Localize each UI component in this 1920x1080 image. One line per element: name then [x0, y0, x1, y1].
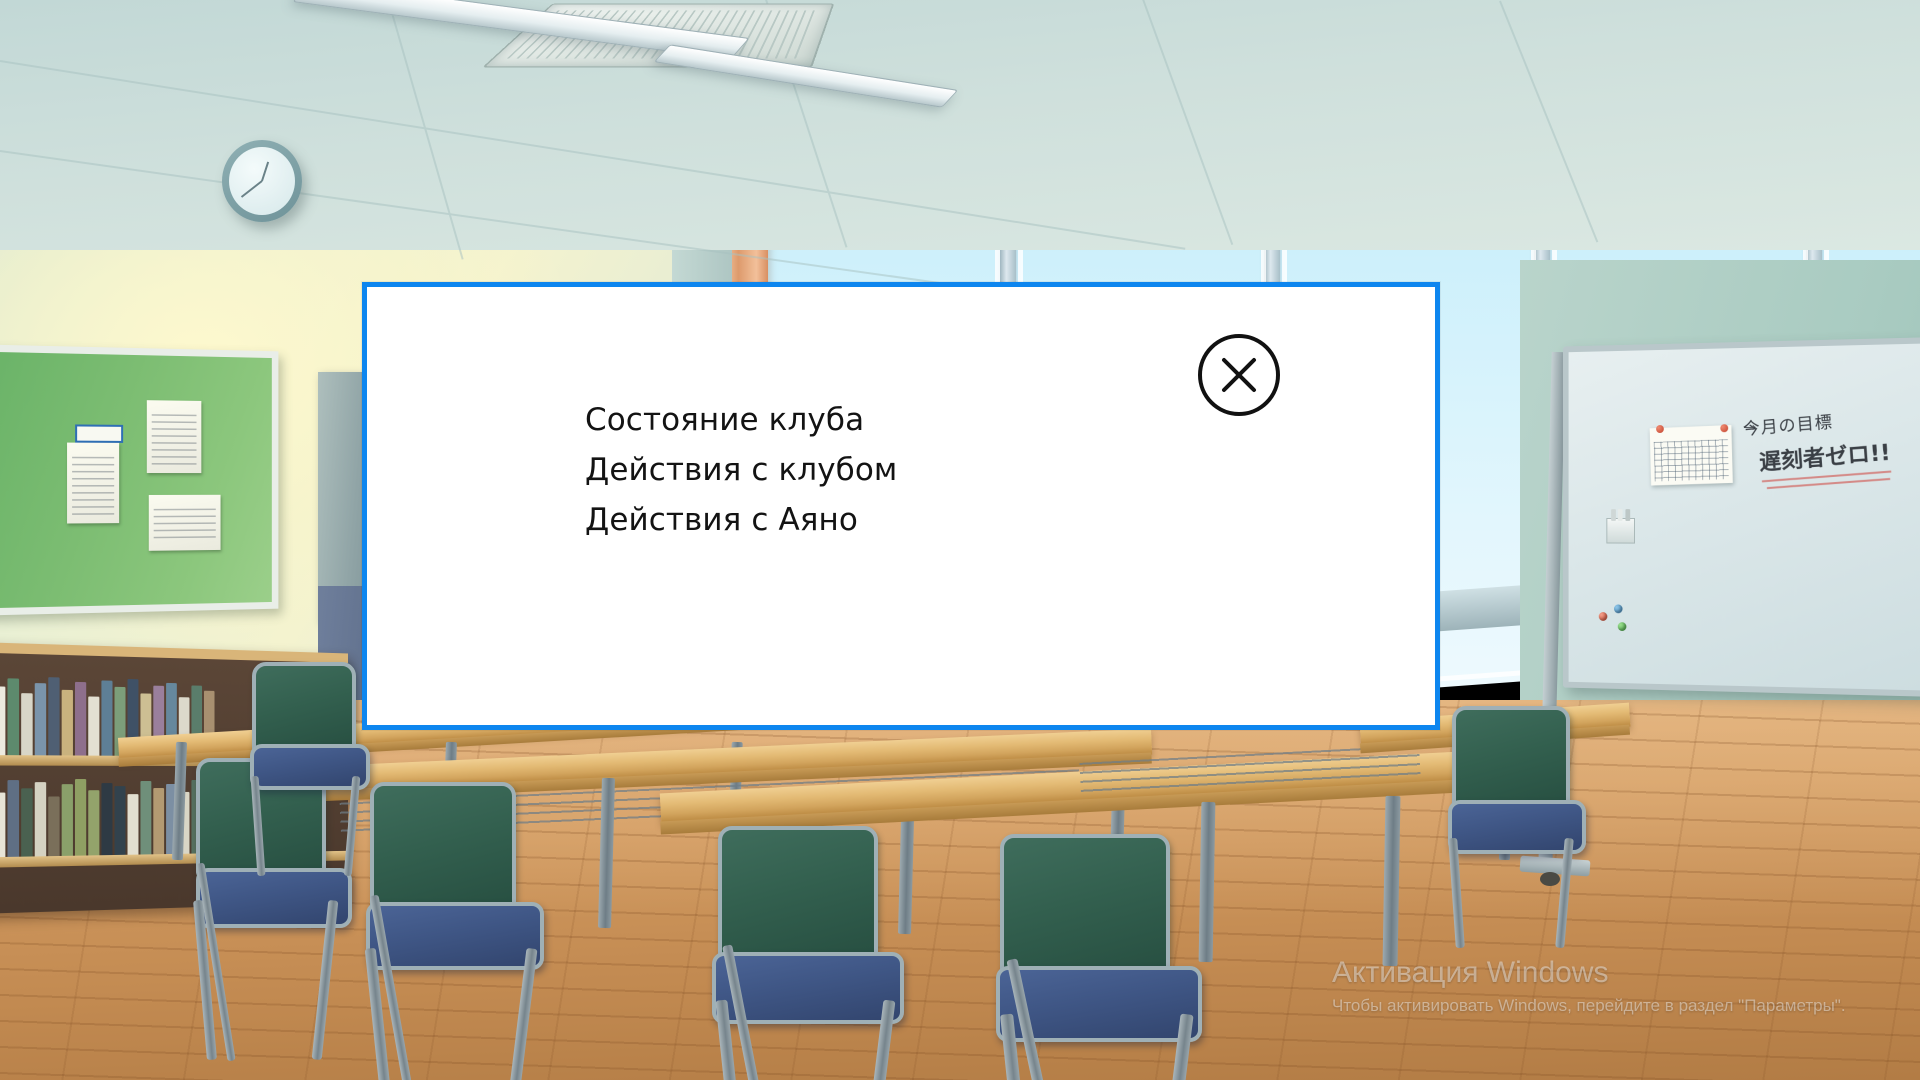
push-pin [1656, 425, 1664, 433]
menu-item-ayano-actions[interactable]: Действия с Аяно [585, 499, 897, 541]
club-menu-dialog: Состояние клуба Действия с клубом Действ… [362, 282, 1440, 730]
wall-clock [222, 140, 302, 222]
marker-tray [1606, 518, 1635, 544]
close-x-icon [1219, 355, 1259, 395]
push-pin [1720, 424, 1728, 432]
whiteboard-goal-text: 遅刻者ゼロ!! [1758, 434, 1892, 477]
bulletin-board [0, 344, 278, 615]
ceiling-tile-grid [0, 0, 1920, 250]
bulletin-sheet [149, 495, 221, 551]
magnet [1614, 604, 1623, 613]
magnet [1618, 622, 1627, 631]
whiteboard-caster [1540, 872, 1560, 886]
whiteboard: → 今月の目標 遅刻者ゼロ!! [1563, 337, 1920, 696]
bulletin-sheet [147, 400, 202, 473]
pinned-calendar [1650, 425, 1733, 485]
whiteboard-goal-label: 今月の目標 [1742, 403, 1889, 440]
menu-item-club-actions[interactable]: Действия с клубом [585, 449, 897, 491]
bulletin-sheet [67, 443, 119, 524]
game-screen: → 今月の目標 遅刻者ゼロ!! [0, 0, 1920, 1080]
bulletin-tag [75, 424, 123, 442]
club-menu-list: Состояние клуба Действия с клубом Действ… [585, 399, 897, 541]
whiteboard-note: 今月の目標 遅刻者ゼロ!! [1742, 403, 1891, 478]
magnet [1599, 612, 1608, 621]
whiteboard-assembly: → 今月の目標 遅刻者ゼロ!! [1563, 337, 1920, 696]
ceiling [0, 0, 1920, 250]
menu-item-club-status[interactable]: Состояние клуба [585, 399, 897, 441]
close-circle-icon[interactable] [1198, 334, 1280, 416]
